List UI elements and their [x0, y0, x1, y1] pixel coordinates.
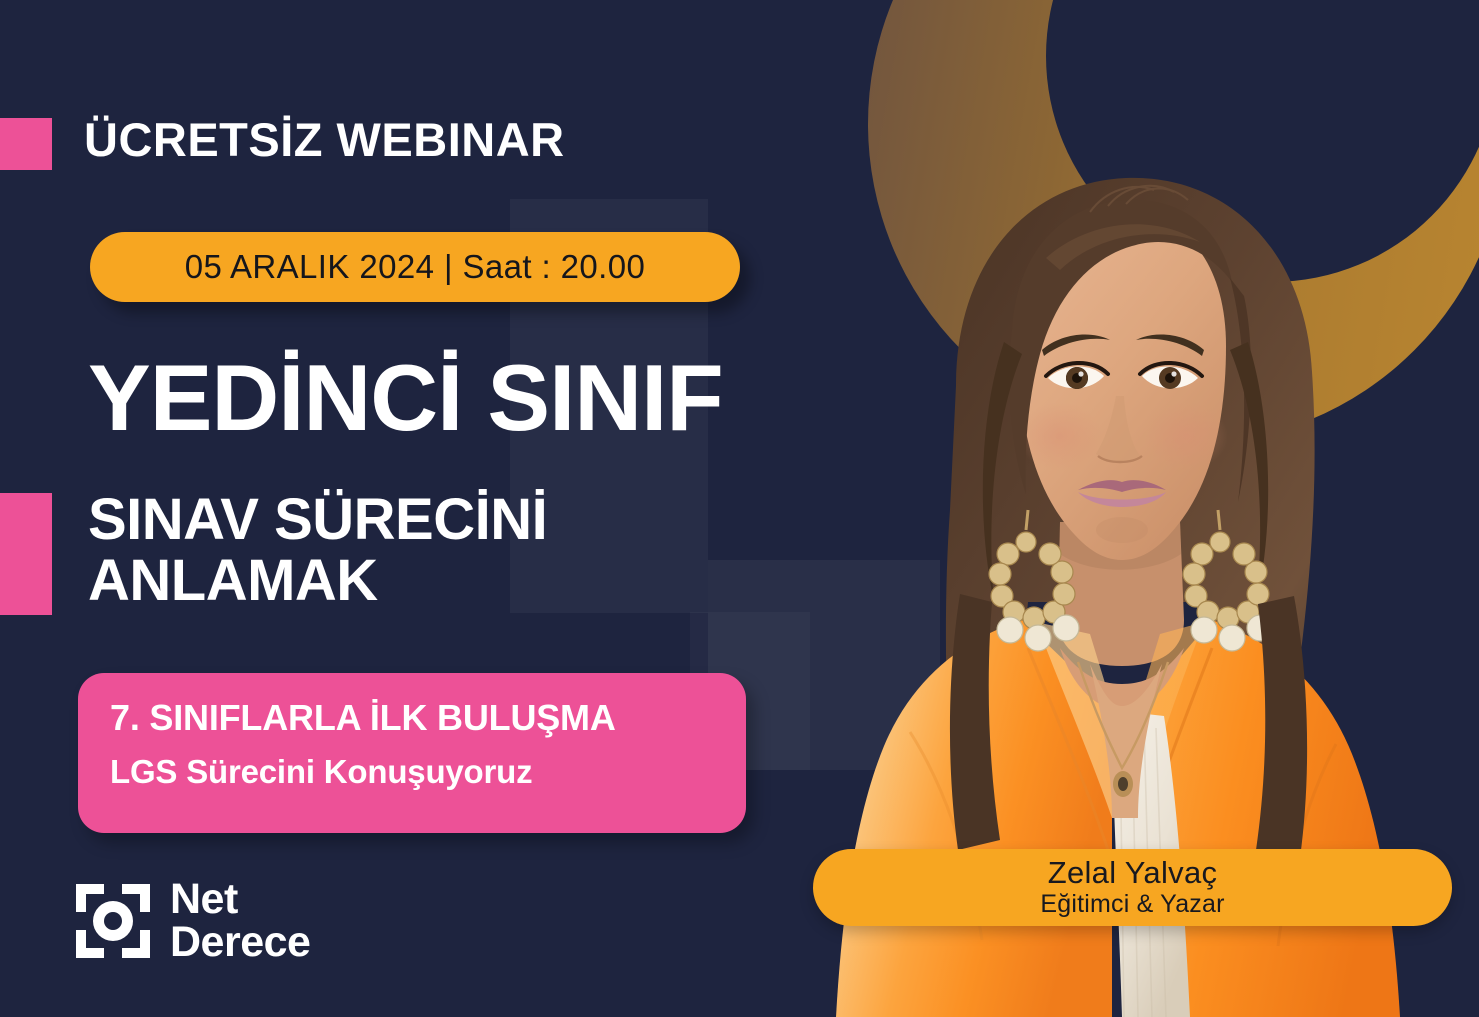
- page-title: YEDİNCİ SINIF: [88, 352, 723, 444]
- speaker-name: Zelal Yalvaç: [1048, 856, 1218, 891]
- highlight-card-subtitle: LGS Sürecini Konuşuyoruz: [110, 753, 716, 791]
- date-time-badge: 05 ARALIK 2024 | Saat : 20.00: [90, 232, 740, 302]
- brand-logo-wordmark: Net Derece: [170, 878, 310, 964]
- page-kicker: ÜCRETSİZ WEBINAR: [84, 112, 565, 167]
- brand-logo: Net Derece: [74, 878, 310, 964]
- speaker-role: Eğitimci & Yazar: [1040, 890, 1224, 919]
- highlight-card: 7. SINIFLARLA İLK BULUŞMA LGS Sürecini K…: [78, 673, 746, 833]
- pink-accent-bar-top: [0, 118, 52, 170]
- highlight-card-title: 7. SINIFLARLA İLK BULUŞMA: [110, 697, 716, 739]
- brand-name-line-2: Derece: [170, 921, 310, 964]
- speaker-name-badge: Zelal Yalvaç Eğitimci & Yazar: [813, 849, 1452, 926]
- camera-frame-icon: [74, 882, 152, 960]
- brand-name-line-1: Net: [170, 878, 310, 921]
- date-time-text: 05 ARALIK 2024 | Saat : 20.00: [185, 248, 646, 286]
- page-subtitle-line-1: SINAV SÜRECİNİ: [88, 489, 547, 550]
- webinar-poster: ÜCRETSİZ WEBINAR 05 ARALIK 2024 | Saat :…: [0, 0, 1479, 1017]
- page-subtitle-line-2: ANLAMAK: [88, 550, 547, 611]
- pink-accent-bar-middle: [0, 493, 52, 615]
- page-subtitle: SINAV SÜRECİNİ ANLAMAK: [88, 489, 547, 612]
